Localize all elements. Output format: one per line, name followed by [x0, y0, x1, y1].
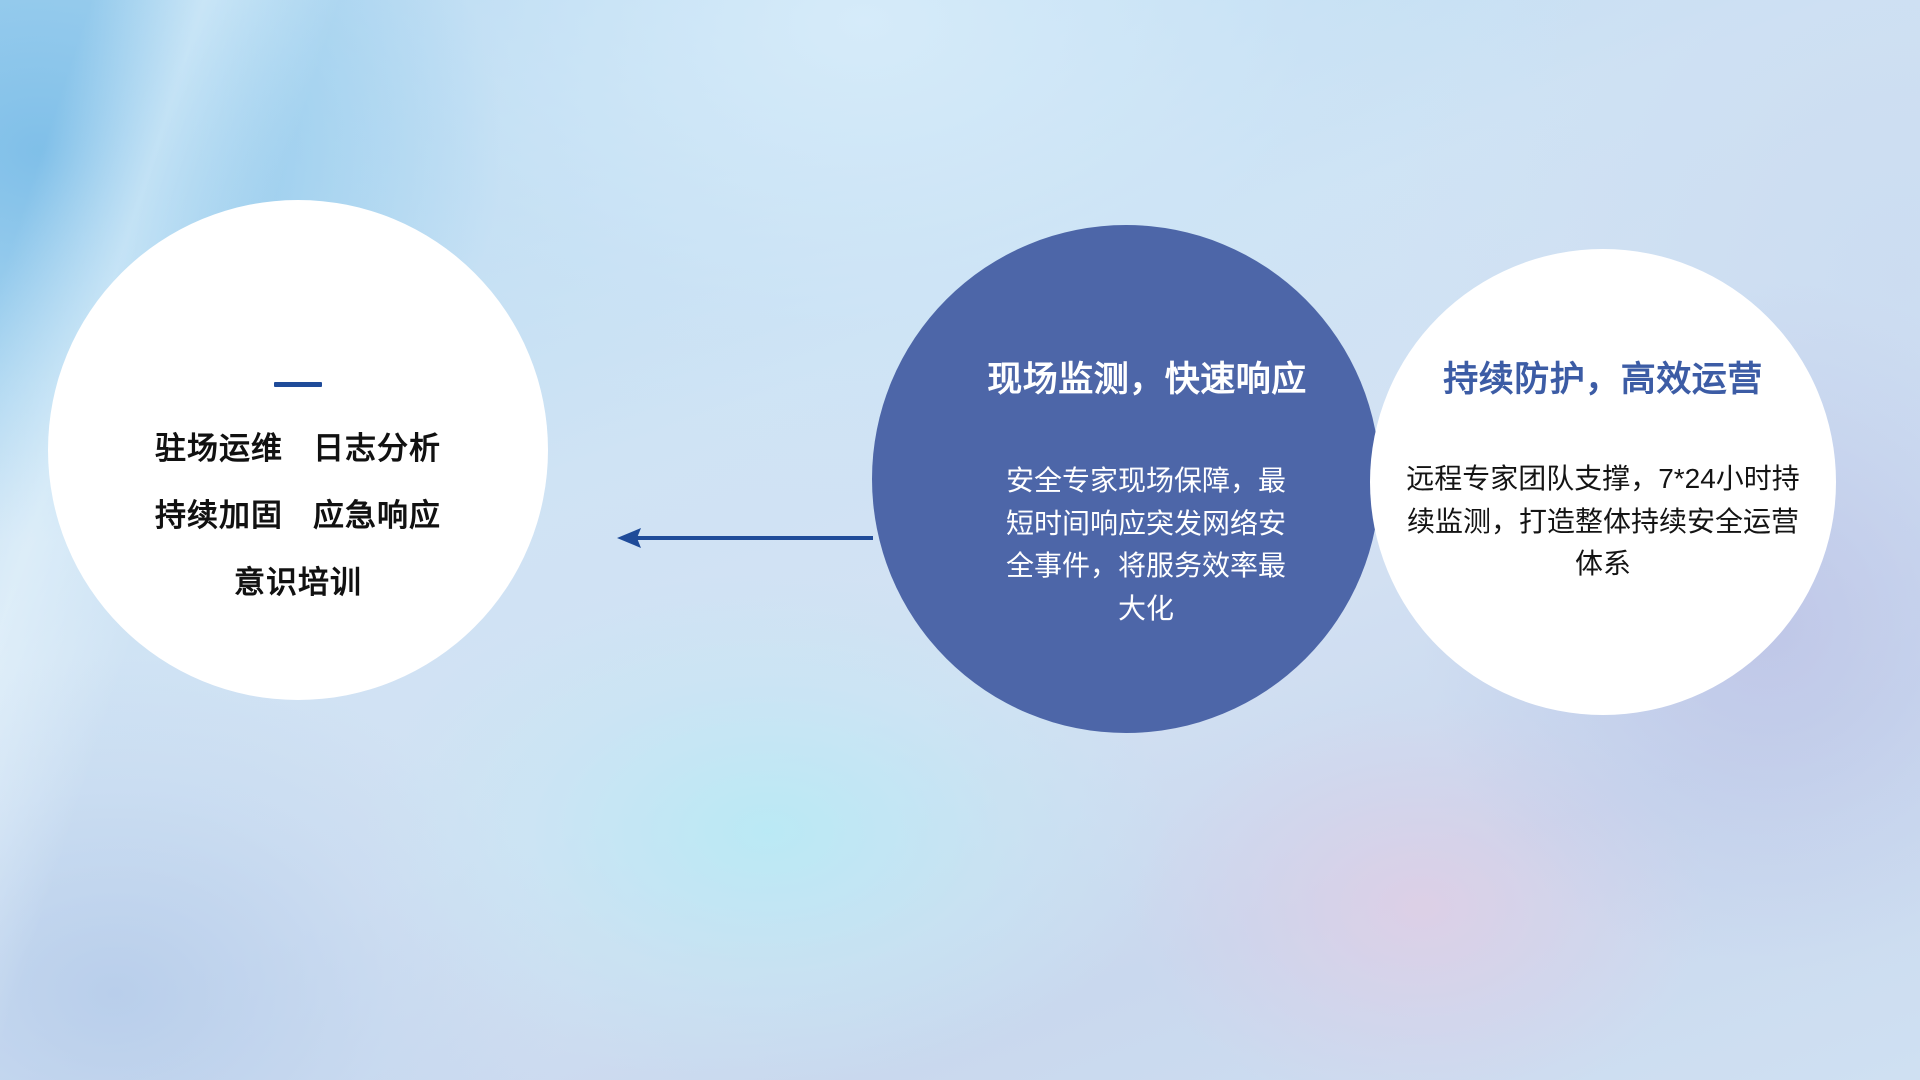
left-capability-5: 意识培训: [234, 565, 362, 600]
left-circle-content: 驻场运维日志分析 持续加固应急响应 意识培训: [48, 200, 548, 700]
left-capability-1: 驻场运维: [155, 431, 283, 466]
middle-blue-circle[interactable]: [872, 225, 1380, 733]
flow-arrow-left-icon: [615, 525, 875, 551]
left-divider-dash: [274, 382, 322, 387]
left-capability-row-2: 持续加固应急响应: [155, 500, 441, 531]
left-capability-4: 应急响应: [313, 498, 441, 533]
right-circle-content: 持续防护，高效运营 远程专家团队支撑，7*24小时持续监测，打造整体持续安全运营…: [1370, 249, 1836, 715]
left-capability-2: 日志分析: [313, 431, 441, 466]
left-capability-row-3: 意识培训: [234, 567, 362, 598]
slide-canvas: 驻场运维日志分析 持续加固应急响应 意识培训 现场监测，快速响应 安全专家现场保…: [0, 0, 1920, 1080]
left-capability-3: 持续加固: [155, 498, 283, 533]
right-circle-body: 远程专家团队支撑，7*24小时持续监测，打造整体持续安全运营体系: [1399, 458, 1807, 586]
left-capability-row-1: 驻场运维日志分析: [155, 433, 441, 464]
right-circle-title: 持续防护，高效运营: [1443, 351, 1763, 402]
